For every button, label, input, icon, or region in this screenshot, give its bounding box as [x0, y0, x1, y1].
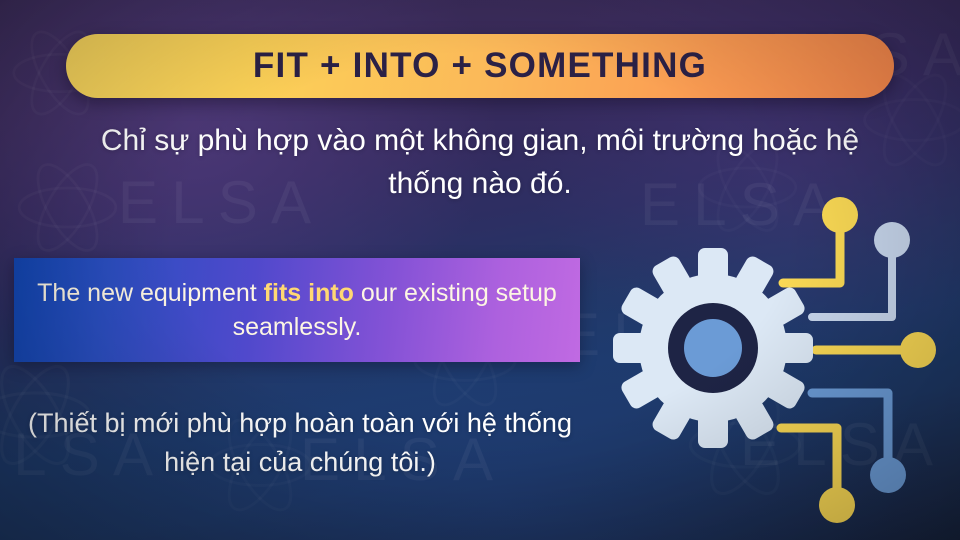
node-yellow-right [900, 332, 936, 368]
node-yellow-bottom [819, 487, 855, 523]
gear-circuit-illustration [600, 185, 960, 540]
node-yellow-top [822, 197, 858, 233]
gear-hub [684, 319, 742, 377]
example-sentence-box: The new equipment fits into our existing… [14, 258, 580, 362]
slide-canvas: ELSA ELSA ELSA ELSA ELSA ELSA ELSA [0, 0, 960, 540]
example-before: The new equipment [37, 279, 264, 307]
gear-icon [613, 248, 813, 448]
node-blue-bottom [870, 457, 906, 493]
node-lightblue-top [874, 222, 910, 258]
page-title: FIT + INTO + SOMETHING [253, 46, 707, 86]
title-banner: FIT + INTO + SOMETHING [66, 34, 894, 98]
example-sentence: The new equipment fits into our existing… [14, 276, 580, 345]
example-highlight: fits into [264, 279, 354, 307]
translation-text: (Thiết bị mới phù hợp hoàn toàn với hệ t… [10, 404, 590, 482]
